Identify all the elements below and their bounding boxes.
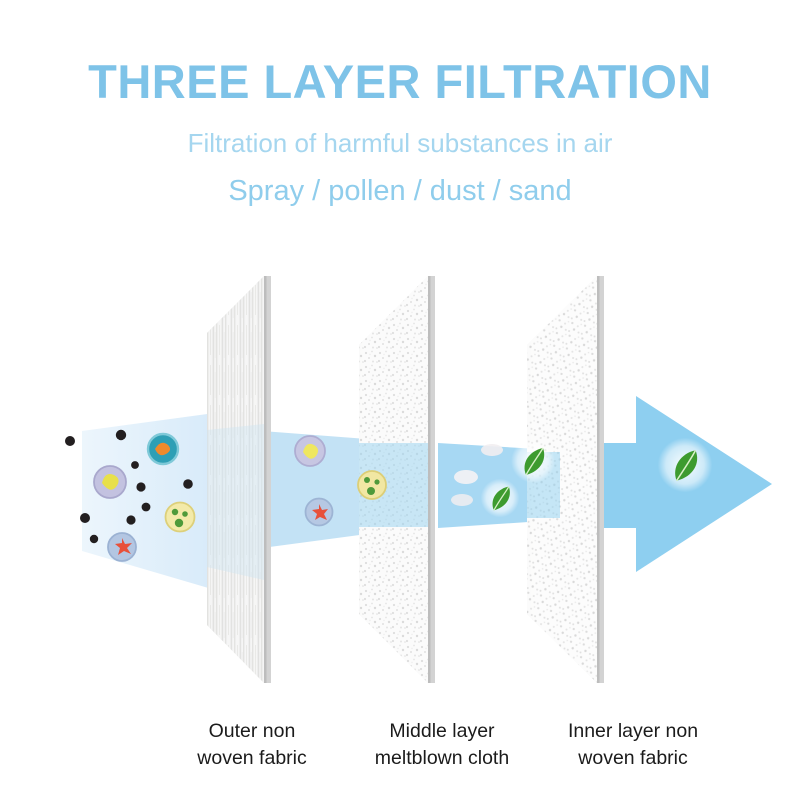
layer-3-right-edge-hilite bbox=[597, 276, 600, 683]
germ-red-icon bbox=[108, 533, 136, 561]
caption-inner-non-woven-fabric: Inner layer non woven fabric bbox=[534, 718, 732, 772]
leaf-icon-1 bbox=[511, 439, 555, 483]
dust-speck bbox=[142, 503, 151, 512]
page-title: THREE LAYER FILTRATION bbox=[0, 58, 800, 105]
clean-particle bbox=[454, 470, 478, 484]
infographic-canvas: THREE LAYER FILTRATION Filtration of har… bbox=[0, 0, 800, 804]
dust-speck bbox=[136, 482, 145, 491]
germ-lavender-icon bbox=[94, 466, 126, 498]
germ-yellow-icon-2 bbox=[358, 471, 386, 499]
dust-speck bbox=[65, 436, 75, 446]
dust-speck bbox=[131, 461, 139, 469]
germ-lavender-icon-2 bbox=[295, 436, 325, 466]
layer-1-tint bbox=[207, 424, 264, 580]
dust-speck bbox=[116, 430, 126, 440]
clean-particle bbox=[451, 494, 473, 506]
dust-speck bbox=[126, 515, 135, 524]
leaf-icon-2 bbox=[481, 479, 520, 518]
caption-middle-meltblown-cloth: Middle layer meltblown cloth bbox=[348, 718, 536, 772]
subtitle-primary: Filtration of harmful substances in air bbox=[0, 130, 800, 156]
layer-1-right-edge-hilite bbox=[264, 276, 267, 683]
germ-red-icon-2 bbox=[306, 499, 333, 526]
germ-teal-icon bbox=[148, 434, 178, 464]
dust-speck bbox=[183, 479, 193, 489]
filtration-diagram bbox=[0, 0, 800, 804]
dust-speck bbox=[90, 535, 98, 543]
layer-captions: Outer non woven fabric Middle layer melt… bbox=[0, 718, 800, 798]
germ-yellow-icon bbox=[166, 503, 195, 532]
subtitle-secondary: Spray / pollen / dust / sand bbox=[0, 177, 800, 206]
leaf-icon-3 bbox=[658, 438, 713, 493]
layer-outer-non-woven-fabric bbox=[207, 276, 271, 683]
dust-speck bbox=[80, 513, 90, 523]
caption-outer-non-woven-fabric: Outer non woven fabric bbox=[168, 718, 336, 772]
layer-2-right-edge-hilite bbox=[428, 276, 431, 683]
clean-particle bbox=[481, 444, 503, 456]
